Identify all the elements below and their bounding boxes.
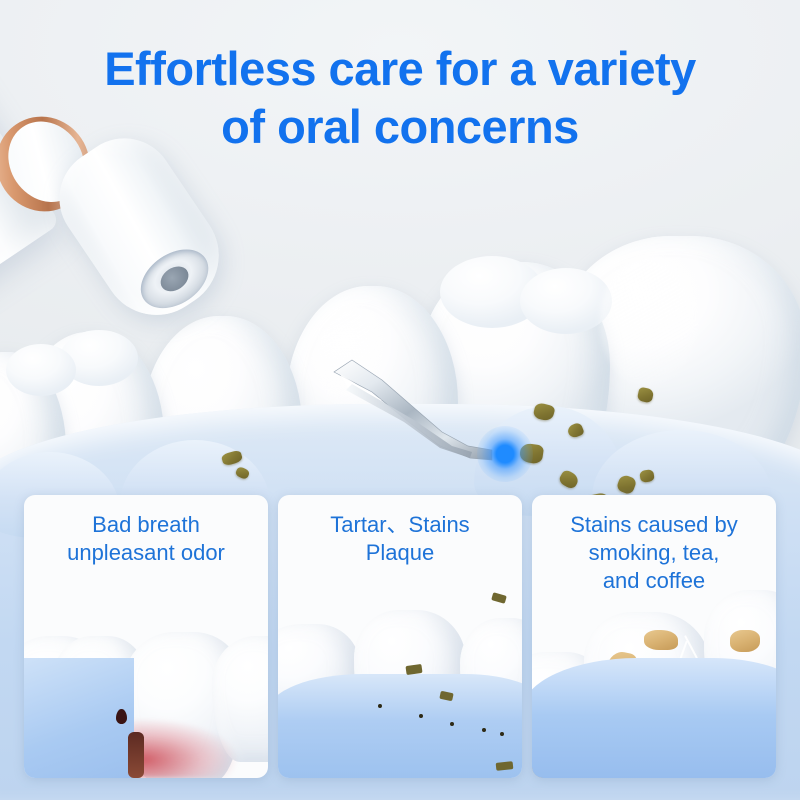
card2-plaque-dot xyxy=(450,722,454,726)
card-illustration-inflamed-gums xyxy=(24,588,268,778)
card-tartar-stains-plaque[interactable]: Tartar、Stains Plaque xyxy=(278,495,522,778)
ultrasonic-contact-glow xyxy=(477,426,533,482)
card3-stain-patch xyxy=(730,630,760,652)
card2-gum xyxy=(278,674,522,778)
card2-plaque-dot xyxy=(500,732,504,736)
product-marketing-image: strong normal soft xyxy=(0,0,800,800)
card-illustration-stained-teeth xyxy=(532,588,776,778)
card1-gum-recession xyxy=(128,732,144,778)
card1-cavity-spot xyxy=(116,709,127,724)
benefit-cards: Bad breath unpleasant odor Tartar、Stains… xyxy=(24,495,776,778)
card-title: Tartar、Stains Plaque xyxy=(278,495,522,567)
card-smoking-tea-coffee[interactable]: Stains caused by smoking, tea, and coffe… xyxy=(532,495,776,778)
card2-plaque-fleck xyxy=(491,592,507,604)
dental-scaler-device: strong normal soft xyxy=(0,0,400,480)
card2-plaque-dot xyxy=(378,704,382,708)
card3-gum xyxy=(532,658,776,778)
card-illustration-tartar xyxy=(278,588,522,778)
card-title: Stains caused by smoking, tea, and coffe… xyxy=(532,495,776,595)
card-bad-breath[interactable]: Bad breath unpleasant odor xyxy=(24,495,268,778)
tip-socket xyxy=(130,237,219,320)
card2-plaque-dot xyxy=(419,714,423,718)
card3-stain-patch xyxy=(644,630,678,650)
card-title: Bad breath unpleasant odor xyxy=(24,495,268,567)
card2-plaque-dot xyxy=(482,728,486,732)
